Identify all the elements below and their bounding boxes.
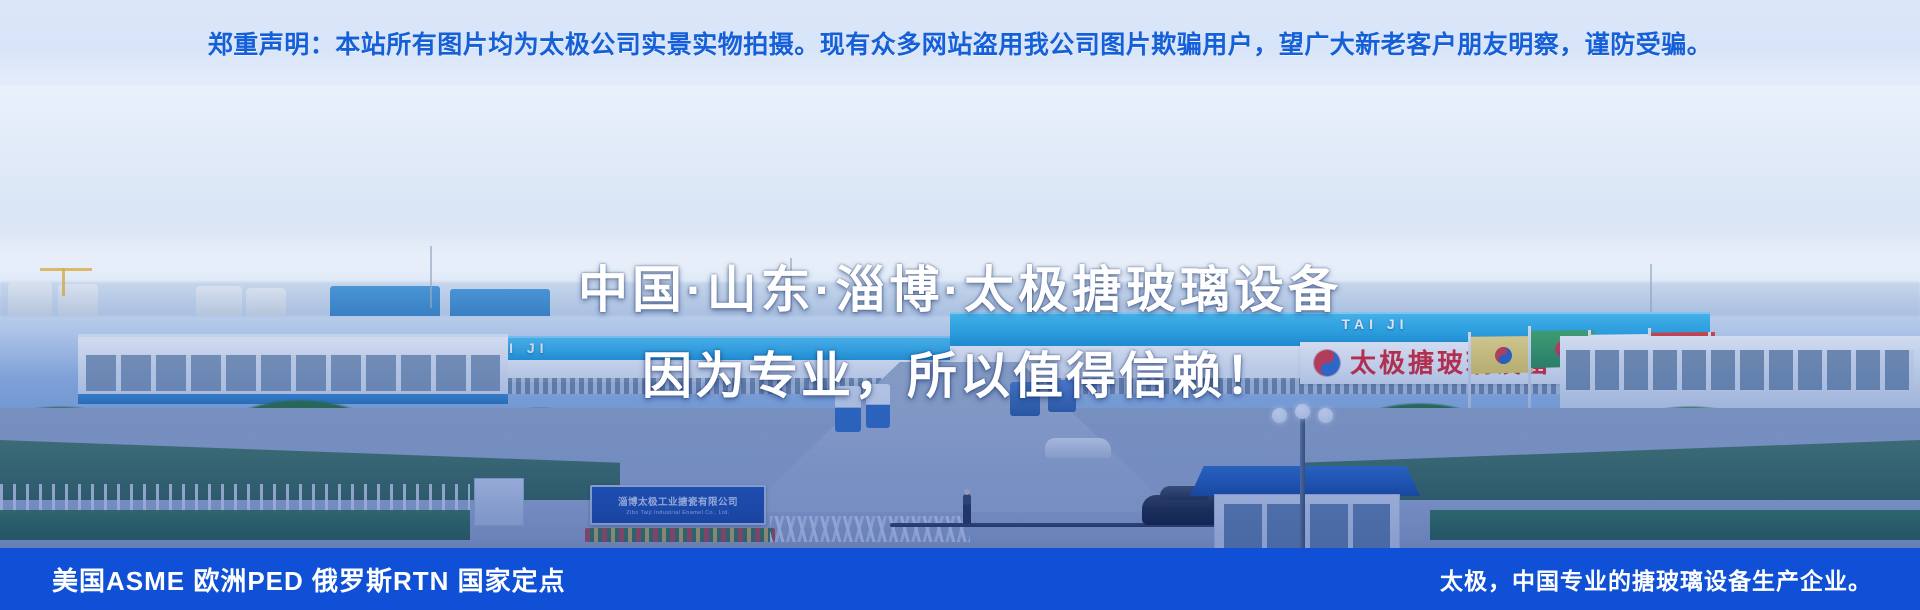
company-gate-sign: 淄博太极工业搪瓷有限公司 Zibo Taiji Industrial Ename… bbox=[590, 485, 766, 525]
chimney-pole bbox=[430, 246, 432, 308]
left-gate-booth bbox=[474, 478, 524, 526]
notice-bar: 郑重声明：本站所有图片均为太极公司实景实物拍摄。现有众多网站盗用我公司图片欺骗用… bbox=[0, 0, 1920, 86]
construction-crane bbox=[40, 268, 92, 271]
storage-tank bbox=[8, 282, 52, 316]
chimney-pole bbox=[790, 258, 792, 312]
factory-photo-scene: TAI JI TAI JI 太极搪玻璃设备 bbox=[0, 86, 1920, 548]
security-guard bbox=[963, 494, 971, 524]
roof-label-right: TAI JI bbox=[1320, 315, 1430, 333]
parked-bus bbox=[866, 384, 890, 428]
promo-banner-page: 郑重声明：本站所有图片均为太极公司实景实物拍摄。现有众多网站盗用我公司图片欺骗用… bbox=[0, 0, 1920, 610]
chimney-pole bbox=[1650, 264, 1652, 312]
guard-house-roof bbox=[1190, 466, 1420, 496]
certification-text: 美国ASME 欧洲PED 俄罗斯RTN 国家定点 bbox=[52, 561, 566, 598]
flower-bed bbox=[585, 528, 775, 542]
lamp-bulb-icon bbox=[1318, 408, 1333, 423]
company-tagline: 太极，中国专业的搪玻璃设备生产企业。 bbox=[1440, 562, 1872, 596]
street-lamp-head bbox=[1272, 404, 1334, 426]
parked-car bbox=[1045, 438, 1111, 458]
hedge-right bbox=[1430, 510, 1920, 540]
bottom-certification-bar: 美国ASME 欧洲PED 俄罗斯RTN 国家定点 太极，中国专业的搪玻璃设备生产… bbox=[0, 548, 1920, 610]
lamp-bulb-icon bbox=[1295, 404, 1310, 419]
retractable-gate bbox=[770, 516, 970, 542]
gate-sign-chinese: 淄博太极工业搪瓷有限公司 bbox=[618, 494, 738, 508]
sky-haze bbox=[0, 216, 1920, 286]
gate-sign-english: Zibo Taiji Industrial Enamel Co., Ltd. bbox=[626, 510, 729, 516]
guard-house-windows bbox=[1224, 504, 1390, 548]
street-lamp-post bbox=[1300, 410, 1305, 548]
notice-text: 郑重声明：本站所有图片均为太极公司实景实物拍摄。现有众多网站盗用我公司图片欺骗用… bbox=[208, 25, 1713, 61]
parked-truck bbox=[1048, 380, 1076, 412]
parked-bus bbox=[835, 386, 861, 432]
lamp-bulb-icon bbox=[1272, 408, 1287, 423]
parked-truck bbox=[1010, 382, 1040, 416]
hedge-left bbox=[0, 510, 470, 540]
construction-crane bbox=[62, 268, 65, 296]
